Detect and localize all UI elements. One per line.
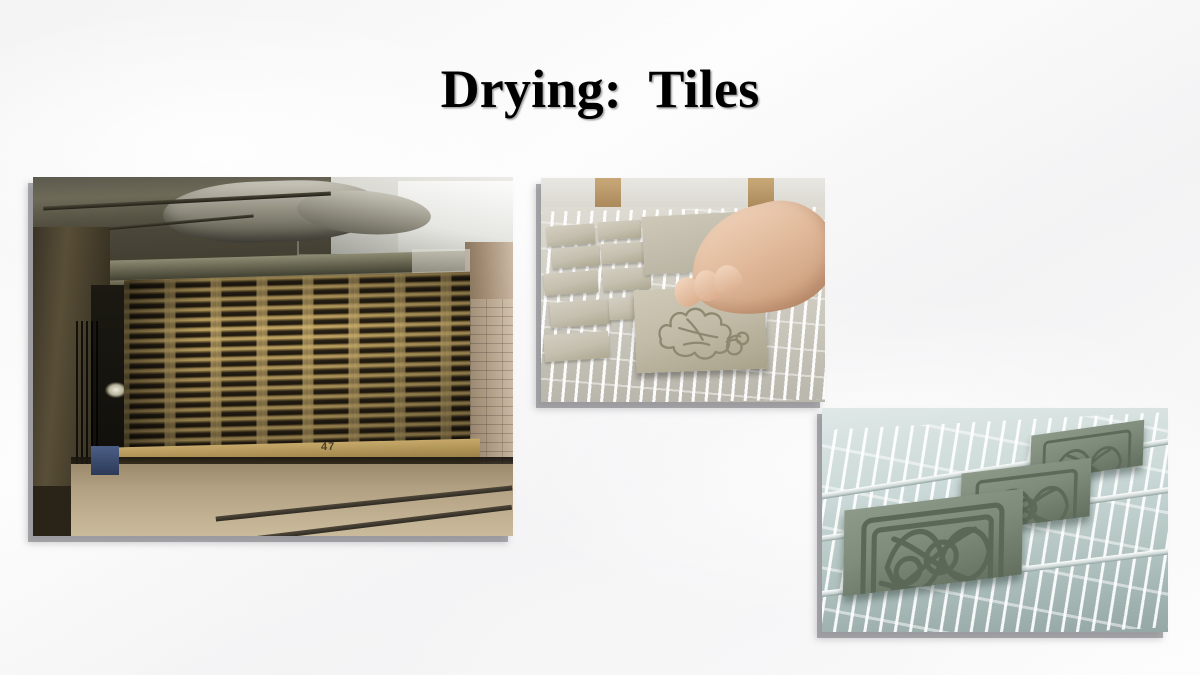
stacked-pallet-rack bbox=[124, 271, 470, 455]
flat-clay-tile bbox=[543, 270, 598, 296]
flat-clay-tile bbox=[549, 299, 610, 328]
page-title: Drying: Tiles bbox=[0, 58, 1200, 120]
industrial-tile-drying-racks-photo: 47 bbox=[33, 177, 513, 536]
kiln-concrete-floor bbox=[71, 464, 513, 536]
dryer-car-number: 47 bbox=[321, 441, 335, 453]
flat-clay-tile bbox=[597, 219, 640, 239]
flat-clay-tile bbox=[600, 242, 646, 265]
kiln-blue-container bbox=[91, 446, 120, 475]
rack-shading bbox=[124, 271, 470, 455]
rack-wood-post-left bbox=[595, 178, 621, 209]
kiln-wall-cables bbox=[76, 321, 100, 465]
flat-clay-tile bbox=[546, 223, 596, 246]
slide-canvas: Drying: Tiles bbox=[0, 0, 1200, 675]
flat-clay-tile bbox=[552, 246, 602, 269]
celtic-knot-tiles-on-rack-photo bbox=[822, 408, 1168, 632]
hand-placing-oak-leaf-tile-photo bbox=[541, 178, 825, 402]
flat-clay-tile bbox=[543, 330, 610, 361]
